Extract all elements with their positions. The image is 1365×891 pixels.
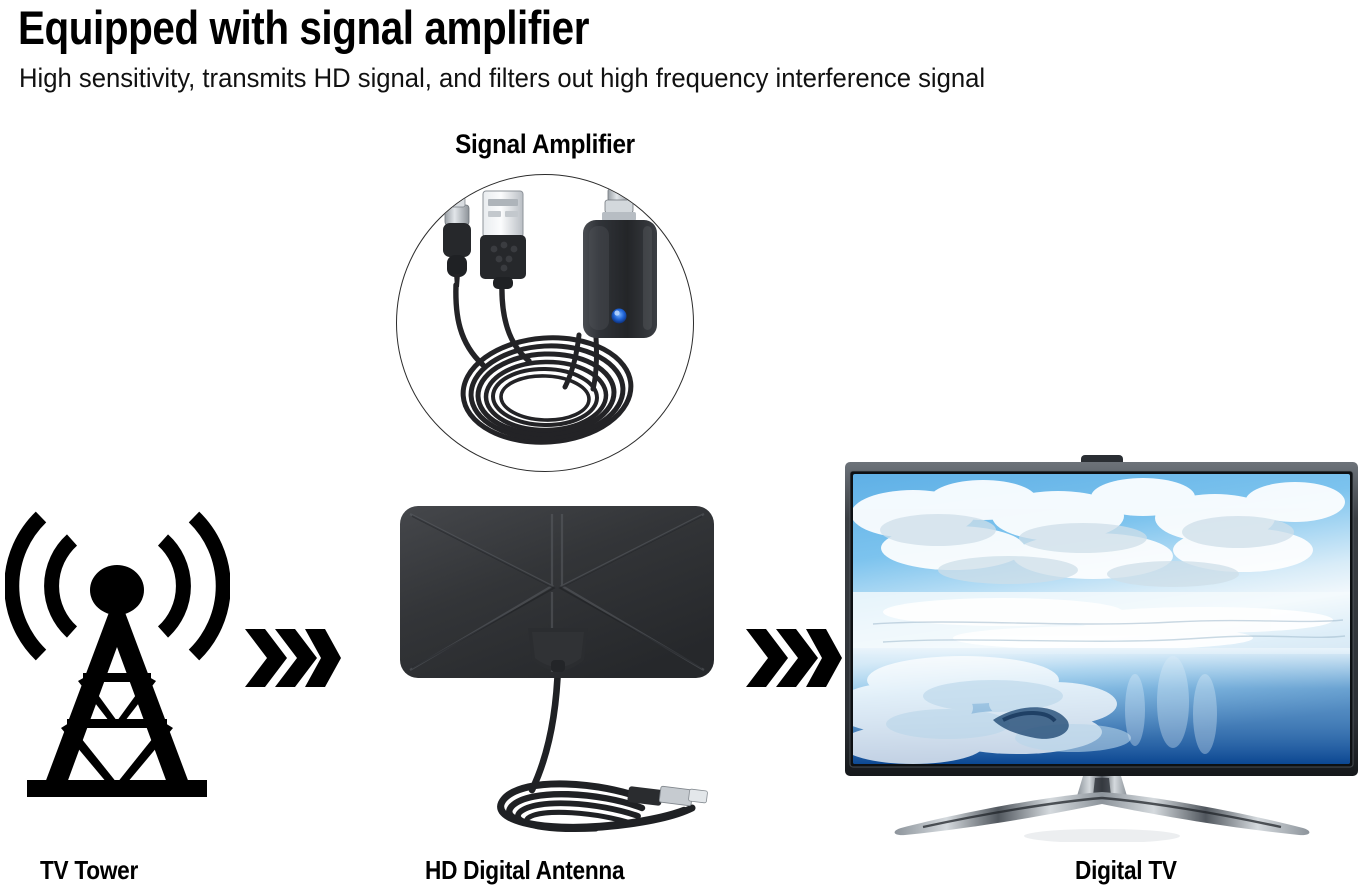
digital-tv-illustration xyxy=(843,452,1360,842)
coax-plug-icon xyxy=(627,786,708,806)
amplifier-body-icon xyxy=(583,189,657,338)
caption-tv-tower: TV Tower xyxy=(40,855,138,886)
page-subtitle: High sensitivity, transmits HD signal, a… xyxy=(19,62,985,94)
amplifier-product-photo xyxy=(397,175,693,471)
tv-tower-illustration xyxy=(5,495,230,810)
caption-digital-tv: Digital TV xyxy=(1075,855,1177,886)
signal-amplifier-label: Signal Amplifier xyxy=(455,129,635,160)
triple-chevron-right-icon xyxy=(243,627,343,689)
usb-connector-icon xyxy=(480,191,526,289)
broadcast-tower-icon xyxy=(5,495,230,810)
page-title: Equipped with signal amplifier xyxy=(18,2,589,54)
arrow-antenna-to-tv xyxy=(744,627,844,689)
signal-amplifier-circle xyxy=(396,174,694,472)
triple-chevron-right-icon xyxy=(744,627,844,689)
arrow-tower-to-antenna xyxy=(243,627,343,689)
hd-digital-antenna-illustration xyxy=(392,500,722,848)
led-indicator-icon xyxy=(612,309,627,324)
caption-hd-digital-antenna: HD Digital Antenna xyxy=(425,855,624,886)
flat-antenna-icon xyxy=(392,500,722,848)
infographic-canvas: Equipped with signal amplifier High sens… xyxy=(0,0,1365,891)
flat-screen-tv-icon xyxy=(843,452,1360,842)
coax-connector-icon xyxy=(443,191,471,287)
